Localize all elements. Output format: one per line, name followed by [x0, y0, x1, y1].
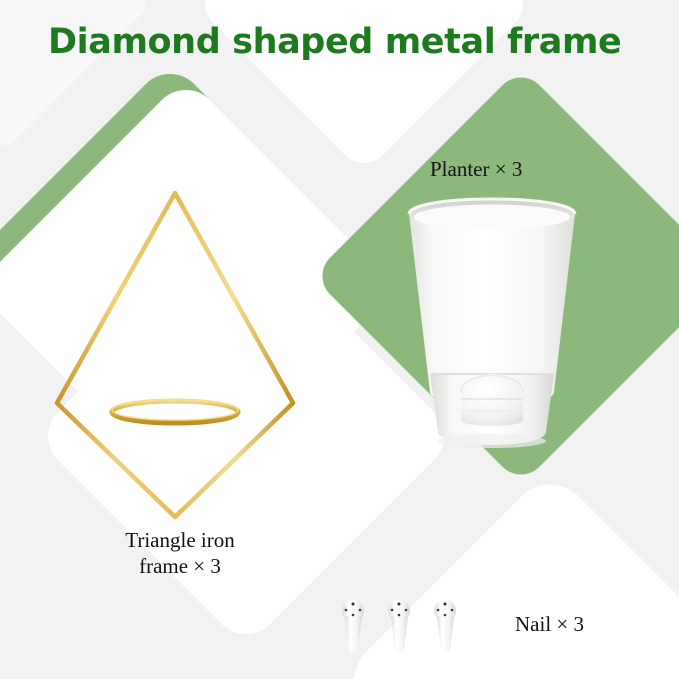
caption-triangle-line2: frame × 3 [70, 554, 290, 580]
nail-hooks-icon [335, 598, 495, 658]
caption-triangle-line1: Triangle iron [70, 528, 290, 554]
caption-planter: Planter × 3 [430, 157, 630, 183]
infographic-canvas: Diamond shaped metal frame Tria [0, 0, 679, 679]
page-title: Diamond shaped metal frame [48, 22, 621, 62]
planter-icon [404, 196, 580, 456]
caption-triangle-frame: Triangle iron frame × 3 [70, 528, 290, 579]
triangle-iron-frame-icon [50, 185, 300, 525]
caption-nail: Nail × 3 [515, 612, 655, 638]
